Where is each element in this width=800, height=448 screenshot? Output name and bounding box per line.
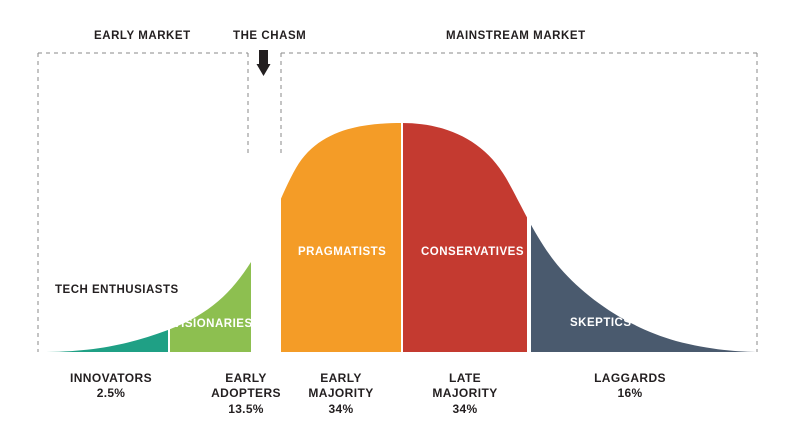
axis-pct-laggards: 16%: [530, 386, 730, 401]
axis-name-early-majority-line1: EARLY: [281, 371, 401, 386]
axis-name-innovators: INNOVATORS: [46, 371, 176, 386]
segment-label-skeptics: SKEPTICS: [570, 317, 632, 329]
segment-late-majority: [403, 100, 527, 360]
segment-early-majority: [281, 100, 401, 360]
axis-pct-late-majority: 34%: [405, 402, 525, 417]
axis-pct-innovators: 2.5%: [46, 386, 176, 401]
axis-label-late-majority: LATE MAJORITY 34%: [405, 371, 525, 417]
band-label-the-chasm: THE CHASM: [233, 30, 306, 42]
segment-label-tech-enthusiasts: TECH ENTHUSIASTS: [55, 284, 179, 296]
axis-pct-early-majority: 34%: [281, 402, 401, 417]
axis-name-late-majority-line1: LATE: [405, 371, 525, 386]
chasm-arrow-icon: [257, 50, 271, 76]
band-label-mainstream-market: MAINSTREAM MARKET: [446, 30, 586, 42]
axis-label-innovators: INNOVATORS 2.5%: [46, 371, 176, 402]
segment-label-visionaries: VISIONARIES: [173, 318, 253, 330]
segment-label-pragmatists: PRAGMATISTS: [298, 246, 386, 258]
band-label-early-market: EARLY MARKET: [94, 30, 191, 42]
axis-name-early-majority-line2: MAJORITY: [281, 386, 401, 401]
axis-name-late-majority-line2: MAJORITY: [405, 386, 525, 401]
axis-label-early-majority: EARLY MAJORITY 34%: [281, 371, 401, 417]
segment-label-conservatives: CONSERVATIVES: [421, 246, 524, 258]
curve-segments: [0, 100, 800, 360]
axis-label-laggards: LAGGARDS 16%: [530, 371, 730, 402]
axis-name-laggards: LAGGARDS: [530, 371, 730, 386]
segment-innovators: [0, 100, 168, 360]
adoption-lifecycle-chart: EARLY MARKET THE CHASM MAINSTREAM MARKET…: [0, 0, 800, 448]
